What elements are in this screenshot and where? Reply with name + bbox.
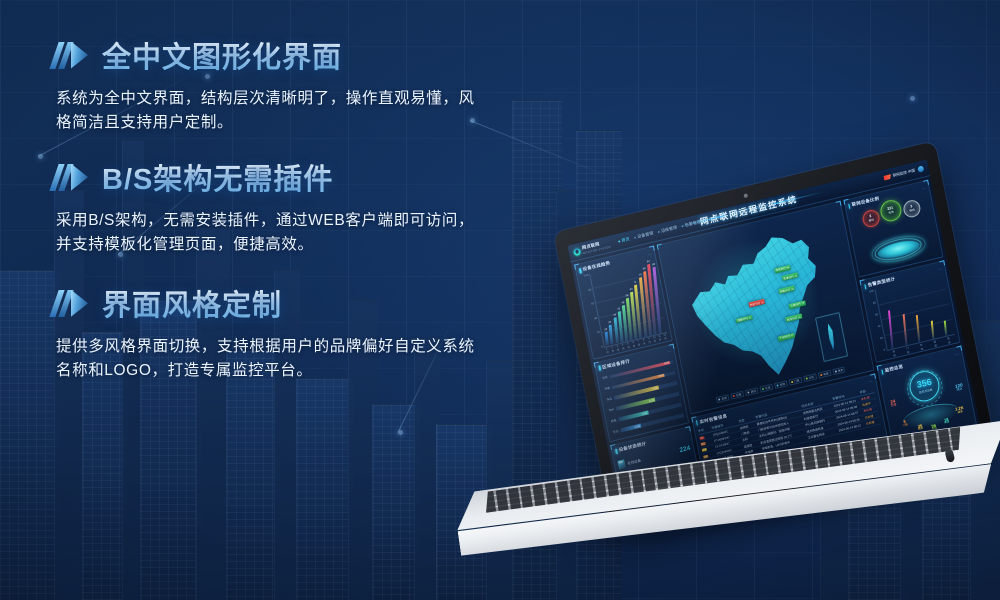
- y-tick: 20: [592, 331, 600, 336]
- rank-value: 96台: [664, 360, 670, 365]
- gauge-side-site: 120 网点: [955, 382, 964, 393]
- y-tick: 100: [865, 290, 873, 295]
- x-tick: 温湿: [933, 340, 937, 348]
- gauge-side-alarm: 24 告警: [889, 398, 897, 408]
- promo-banner: 全中文图形化界面 系统为全中文界面，结构层次清晰明了，操作直观易懂，风格简洁且支…: [0, 0, 1000, 600]
- legend-swatch: [820, 374, 823, 377]
- row-status: 已处理: [866, 420, 875, 426]
- ring-label: 在线: [888, 210, 894, 215]
- horizontal-bar-series: 华东96台华南84台华北71台华中62台西南48台东北33台: [600, 356, 685, 438]
- bar-label: 88: [652, 263, 655, 267]
- x-tick: 视频: [892, 349, 896, 357]
- bar: 34: [613, 318, 618, 344]
- y-tick: 40: [872, 325, 880, 330]
- y-tick: 20: [875, 337, 883, 342]
- legend-label: 全部: [721, 396, 727, 401]
- legend-label: 离线: [750, 389, 756, 394]
- laptop-mockup: 网点联网 MONITOR SYSTEM 首页 设备管理 运维管理 告警管理 报表…: [520, 176, 1000, 600]
- rank-value: 62台: [649, 398, 655, 403]
- nav-item-device[interactable]: 设备管理: [633, 230, 654, 241]
- bar: [902, 313, 907, 345]
- legend-swatch: [805, 377, 808, 380]
- legend-label: 视频: [779, 382, 785, 387]
- ring-logo-icon: [573, 247, 581, 256]
- x-tick: 供电: [919, 343, 923, 351]
- bar-label: 86: [642, 267, 645, 271]
- gauge-petal: 1.2K 通道: [955, 406, 965, 415]
- y-tick: 0: [877, 349, 885, 354]
- nav-item-user[interactable]: 用户中心: [752, 202, 773, 213]
- x-tick: 4月: [621, 343, 625, 350]
- marker-value: 38: [791, 287, 794, 291]
- rank-fill: 33台: [620, 424, 642, 432]
- panel-more-icon[interactable]: ⋯: [647, 251, 652, 257]
- feature-description: 系统为全中文界面，结构层次清晰明了，操作直观易懂，风格简洁且支持用户定制。: [56, 87, 476, 134]
- bar-label: 26: [609, 321, 612, 325]
- x-tick: 其他: [947, 336, 951, 344]
- rank-label: 华中: [607, 407, 615, 413]
- panel-more-icon[interactable]: ⋯: [937, 266, 942, 272]
- panel-device-trend: 设备在线趋势 ⋯ 100 80 60 4: [574, 246, 673, 360]
- title-decoration-right: [773, 191, 824, 204]
- nav-label: 视频监控: [732, 208, 749, 218]
- stat-value: 224: [679, 445, 691, 454]
- side-label: 告警: [890, 403, 897, 408]
- feature-title: 全中文图形化界面: [102, 34, 342, 76]
- nav-item-video[interactable]: 视频监控: [728, 208, 749, 219]
- legend-label: 告警: [736, 392, 742, 397]
- severity-chip: 02: [700, 442, 706, 446]
- panel-more-icon[interactable]: ⋯: [868, 379, 873, 385]
- partner-logo-icon: [883, 174, 892, 181]
- rank-label: 东北: [611, 429, 619, 435]
- table-cell: 已处理: [866, 419, 881, 426]
- feature-item: B/S架构无需插件 采用B/S架构，无需安装插件，通过WEB客户端即可访问，并支…: [54, 156, 524, 256]
- webcam-icon: [743, 193, 748, 198]
- bar: [888, 310, 894, 349]
- marker-value: 74: [801, 302, 804, 306]
- panel-region-rank: 区域设备排行 ⋯ 华东96台华南84台华北71台华中62台西南48台东北33台: [594, 344, 690, 443]
- double-chevron-icon: [54, 290, 88, 317]
- y-tick: 60: [586, 302, 594, 307]
- feature-item: 全中文图形化界面 系统为全中文界面，结构层次清晰明了，操作直观易懂，风格简洁且支…: [54, 34, 524, 134]
- rank-fill: 48台: [617, 411, 648, 422]
- y-tick: 100: [580, 274, 588, 279]
- feature-title: B/S架构无需插件: [102, 156, 333, 198]
- nav-label: 用户中心: [756, 202, 773, 212]
- legend-swatch: [733, 395, 736, 398]
- nav-label: 首页: [621, 236, 630, 244]
- marker-value: 29: [761, 301, 764, 305]
- partner-badge: 联网监控·中国: [883, 168, 915, 180]
- user-avatar-icon[interactable]: [917, 165, 924, 172]
- rank-value: 33台: [634, 424, 640, 429]
- marker-value: 31: [748, 316, 751, 320]
- side-label: 网点: [956, 387, 963, 392]
- y-tick: 80: [583, 288, 591, 293]
- y-tick: 80: [868, 301, 876, 306]
- rank-value: 84台: [658, 373, 664, 378]
- legend-label: 更多: [837, 368, 843, 373]
- stat-label: 在线设备: [627, 458, 641, 466]
- bar-label: 94: [646, 260, 649, 264]
- partner-label: 联网监控·中国: [892, 168, 915, 178]
- panel-more-icon[interactable]: ⋯: [921, 185, 926, 191]
- x-tick: 12月: [663, 333, 667, 340]
- marker-value: 55: [798, 315, 801, 319]
- feature-description: 提供多风格界面切换，支持根据用户的品牌偏好自定义系统名称和LOGO，打造专属监控…: [56, 335, 476, 382]
- x-tick: 10月: [653, 336, 657, 343]
- x-tick: 2月: [611, 346, 615, 353]
- double-chevron-icon: [54, 42, 88, 69]
- ring-label: 停用: [909, 209, 915, 214]
- chart-region-rank: 华东96台华南84台华北71台华中62台西南48台东北33台: [600, 356, 685, 438]
- rank-label: 西南: [609, 418, 617, 424]
- x-tick: 1月: [605, 347, 609, 354]
- feature-heading: 全中文图形化界面: [54, 34, 524, 76]
- x-tick: 6月: [632, 341, 636, 348]
- feature-list: 全中文图形化界面 系统为全中文界面，结构层次清晰明了，操作直观易懂，风格简洁且支…: [54, 34, 524, 404]
- marker-value: 47: [791, 334, 794, 338]
- rank-label: 华北: [605, 397, 613, 403]
- legend-swatch: [776, 384, 779, 387]
- feature-description: 采用B/S架构，无需安装插件，通过WEB客户端即可访问，并支持模板化管理页面，便…: [56, 209, 476, 256]
- bar: 18: [605, 332, 609, 346]
- legend-label: 在线: [765, 385, 771, 390]
- bar-label: 56: [626, 294, 629, 298]
- x-tick: 9月: [647, 337, 651, 344]
- petal-label: 门禁: [902, 423, 908, 427]
- panel-more-icon[interactable]: ⋯: [954, 351, 959, 357]
- x-tick: 5月: [626, 342, 630, 349]
- x-tick: 门禁: [906, 346, 910, 354]
- legend-swatch: [834, 370, 837, 373]
- header-right-tools: 联网监控·中国: [883, 165, 924, 181]
- bar: 26: [609, 325, 613, 345]
- nav-label: 设备管理: [637, 230, 654, 240]
- bar: [930, 320, 934, 339]
- severity-chip: 03: [702, 448, 708, 452]
- x-tick: 7月: [637, 339, 641, 346]
- ratio-ring-offline: 2 离线: [861, 208, 881, 229]
- bar: [944, 321, 947, 336]
- panel-alarm-trend: 告警类型统计 ⋯ 100 80 60 4: [859, 260, 960, 363]
- x-tick: 11月: [658, 334, 662, 341]
- online-device-icon: [617, 460, 625, 470]
- bar-label: 79: [638, 273, 641, 277]
- legend-swatch: [747, 391, 750, 394]
- bar-label: 63: [630, 288, 633, 292]
- rank-label: 华东: [601, 375, 609, 381]
- legend-label: 主机: [808, 375, 814, 380]
- panel-more-icon[interactable]: ⋯: [666, 349, 671, 355]
- south-sea-inset: [815, 312, 848, 362]
- bar-series: 182634414856637179869488: [591, 258, 666, 346]
- y-tick: 60: [870, 313, 878, 318]
- bar-label: 18: [605, 329, 608, 333]
- ring-label: 离线: [868, 218, 874, 223]
- rank-value: 71台: [652, 386, 658, 391]
- bar-label: 48: [621, 301, 624, 305]
- nav-item-home[interactable]: 首页: [617, 236, 630, 245]
- legend-label: 电源: [823, 371, 829, 376]
- bar-label: 71: [634, 281, 637, 285]
- legend-label: 门禁: [794, 378, 800, 383]
- y-tick: 0: [595, 345, 603, 350]
- glow-podium: [875, 234, 921, 265]
- feature-item: 界面风格定制 提供多风格界面切换，支持根据用户的品牌偏好自定义系统名称和LOGO…: [54, 282, 524, 382]
- x-tick: 8月: [642, 338, 646, 345]
- feature-title: 界面风格定制: [102, 282, 282, 324]
- plot-area: 182634414856637179869488: [589, 258, 667, 348]
- chart-device-trend: 100 80 60 40 20 0: [580, 258, 668, 355]
- title-decoration-left: [674, 215, 725, 228]
- double-chevron-icon: [54, 164, 88, 191]
- severity-chip: 01: [699, 436, 705, 440]
- bar: [916, 315, 920, 342]
- rank-label: 华南: [603, 386, 611, 392]
- y-tick: 40: [589, 317, 597, 322]
- rank-fill: 62台: [615, 398, 655, 411]
- x-tick: 3月: [616, 344, 620, 351]
- ratio-ring-online: 221 在线: [878, 198, 903, 224]
- feature-heading: B/S架构无需插件: [54, 156, 524, 198]
- feature-heading: 界面风格定制: [54, 282, 524, 324]
- legend-swatch: [718, 398, 721, 401]
- bar-label: 41: [617, 308, 620, 312]
- ratio-ring-disabled: 3 停用: [902, 198, 922, 219]
- marker-value: 42: [794, 274, 797, 278]
- rank-value: 48台: [642, 411, 648, 416]
- marker-value: 86: [787, 267, 790, 271]
- petal-label: 通道: [957, 410, 963, 414]
- legend-swatch: [791, 381, 794, 384]
- china-map[interactable]: 北京总行86天津分行42济南分行38上海分行74西安分行29成都分行31杭州分行…: [661, 206, 869, 410]
- legend-swatch: [762, 388, 765, 391]
- bar-label: 34: [613, 314, 616, 318]
